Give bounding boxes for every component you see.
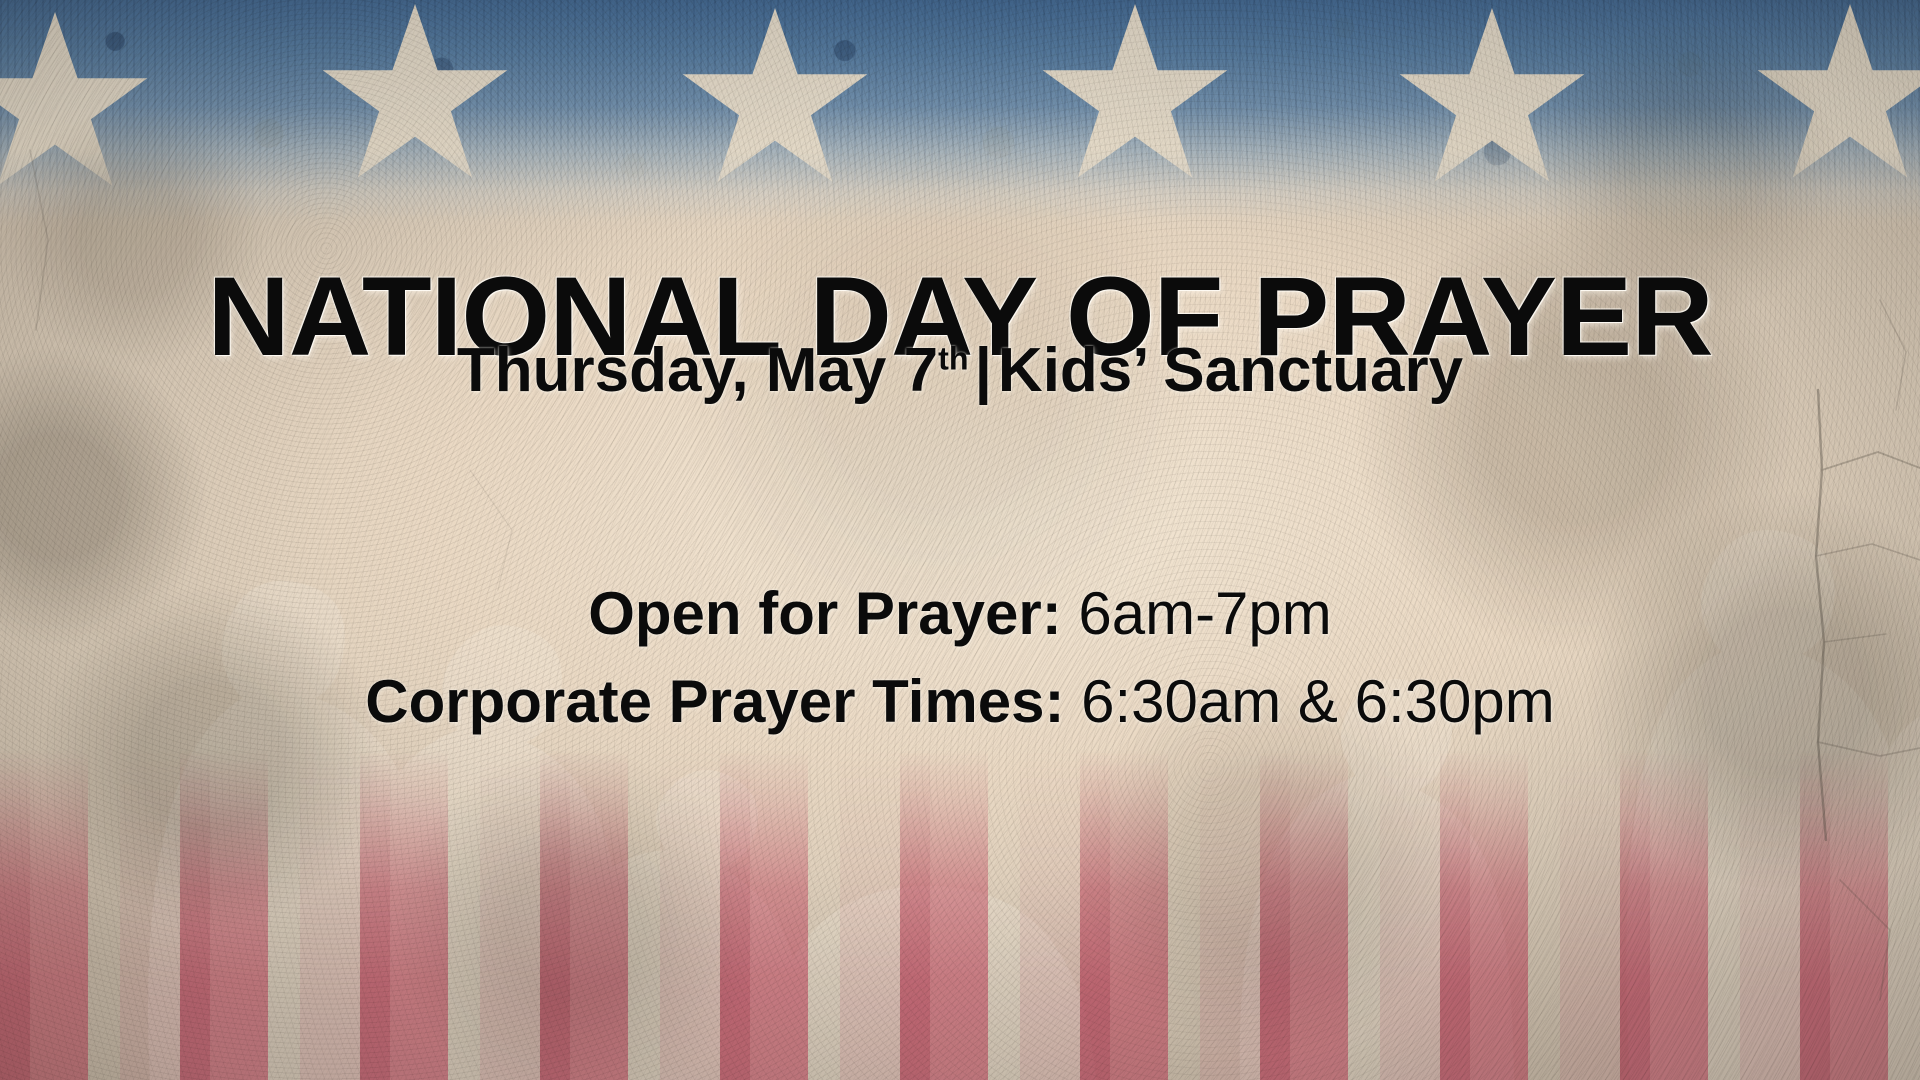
schedule-value-corporate-prayer-times: 6:30am & 6:30pm <box>1081 668 1555 735</box>
event-date: Thursday, May 7 <box>457 336 938 405</box>
schedule-value-open-for-prayer: 6am-7pm <box>1078 580 1331 647</box>
slide-content: NATIONAL DAY OF PRAYER Thursday, May 7th… <box>0 0 1920 1080</box>
prayer-announcement-slide: NATIONAL DAY OF PRAYER Thursday, May 7th… <box>0 0 1920 1080</box>
event-subheading: Thursday, May 7th|Kids’ Sanctuary <box>0 340 1920 402</box>
schedule-row-corporate-prayer-times: Corporate Prayer Times: 6:30am & 6:30pm <box>0 658 1920 746</box>
prayer-schedule-list: Open for Prayer: 6am-7pm Corporate Praye… <box>0 570 1920 745</box>
schedule-row-open-for-prayer: Open for Prayer: 6am-7pm <box>0 570 1920 658</box>
schedule-label-corporate-prayer-times: Corporate Prayer Times: <box>365 668 1064 735</box>
event-location: Kids’ Sanctuary <box>998 336 1463 405</box>
date-ordinal-suffix: th <box>938 340 968 376</box>
subheading-separator: | <box>969 336 998 405</box>
schedule-label-open-for-prayer: Open for Prayer: <box>588 580 1061 647</box>
